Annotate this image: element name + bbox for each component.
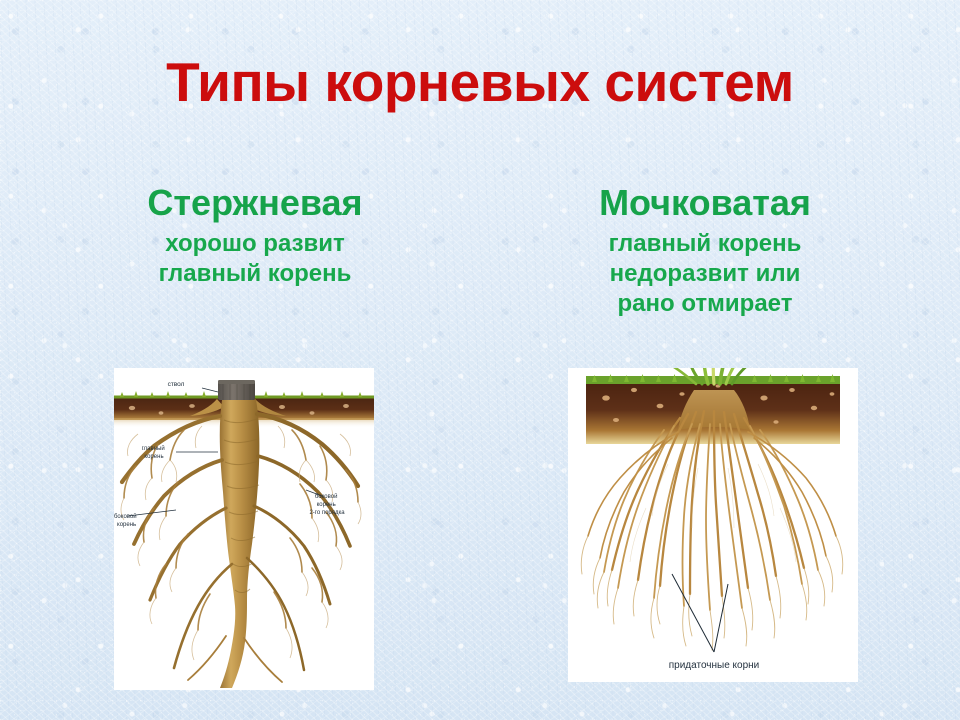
label-stem-text: ствол	[168, 381, 185, 388]
description-line: главный корень	[40, 259, 470, 289]
column-heading-fibrous: Мочковатая	[490, 182, 920, 224]
column-heading-taproot: Стержневая	[40, 182, 470, 224]
column-description-fibrous: главный корень недоразвит или рано отмир…	[490, 229, 920, 319]
label-line: корень	[317, 502, 336, 508]
label-line: боковой	[114, 513, 137, 520]
column-fibrous: Мочковатая главный корень недоразвит или…	[490, 182, 920, 319]
page-title: Типы корневых систем	[0, 52, 960, 112]
label-line: 2-го порядка	[309, 510, 345, 516]
description-line: главный корень	[490, 229, 920, 259]
label-line: корень	[144, 454, 163, 460]
label-line: главный	[142, 445, 165, 452]
description-line: хорошо развит	[40, 229, 470, 259]
label-line: корень	[117, 522, 136, 528]
taproot-system-illustration: ствол главный корень боковой корень боко…	[114, 368, 374, 690]
description-line: недоразвит или	[490, 259, 920, 289]
column-description-taproot: хорошо развит главный корень	[40, 229, 470, 289]
slide-canvas: Типы корневых систем Стержневая хорошо р…	[0, 0, 960, 720]
description-line: рано отмирает	[490, 289, 920, 319]
column-taproot: Стержневая хорошо развит главный корень	[40, 182, 470, 289]
label-line: боковой	[315, 493, 338, 500]
fibrous-root-system-illustration: придаточные корни	[568, 368, 858, 682]
label-adventitious-roots-text: придаточные корни	[669, 660, 760, 671]
